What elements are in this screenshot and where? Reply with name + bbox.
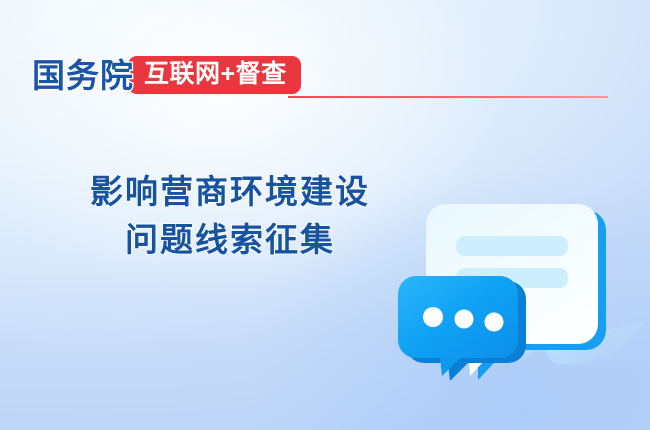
program-badge: 互联网+督查 <box>128 56 301 94</box>
header-divider-line <box>288 96 608 98</box>
bubble-text-bar-1 <box>456 236 568 256</box>
program-badge-label: 互联网+督查 <box>144 60 287 88</box>
title-line-2: 问题线索征集 <box>0 216 460 264</box>
organization-label: 国务院 <box>32 59 134 92</box>
typing-dot-1 <box>423 307 443 327</box>
typing-dot-2 <box>455 310 474 329</box>
blue-typing-bubble <box>398 276 526 381</box>
chat-bubbles-illustration <box>398 196 650 402</box>
typing-dot-3 <box>485 313 504 332</box>
banner-title: 影响营商环境建设 问题线索征集 <box>0 168 460 264</box>
title-line-1: 影响营商环境建设 <box>0 168 460 216</box>
promo-banner: 国务院 互联网+督查 影响营商环境建设 问题线索征集 <box>0 0 650 430</box>
banner-header: 国务院 互联网+督查 <box>32 53 301 97</box>
